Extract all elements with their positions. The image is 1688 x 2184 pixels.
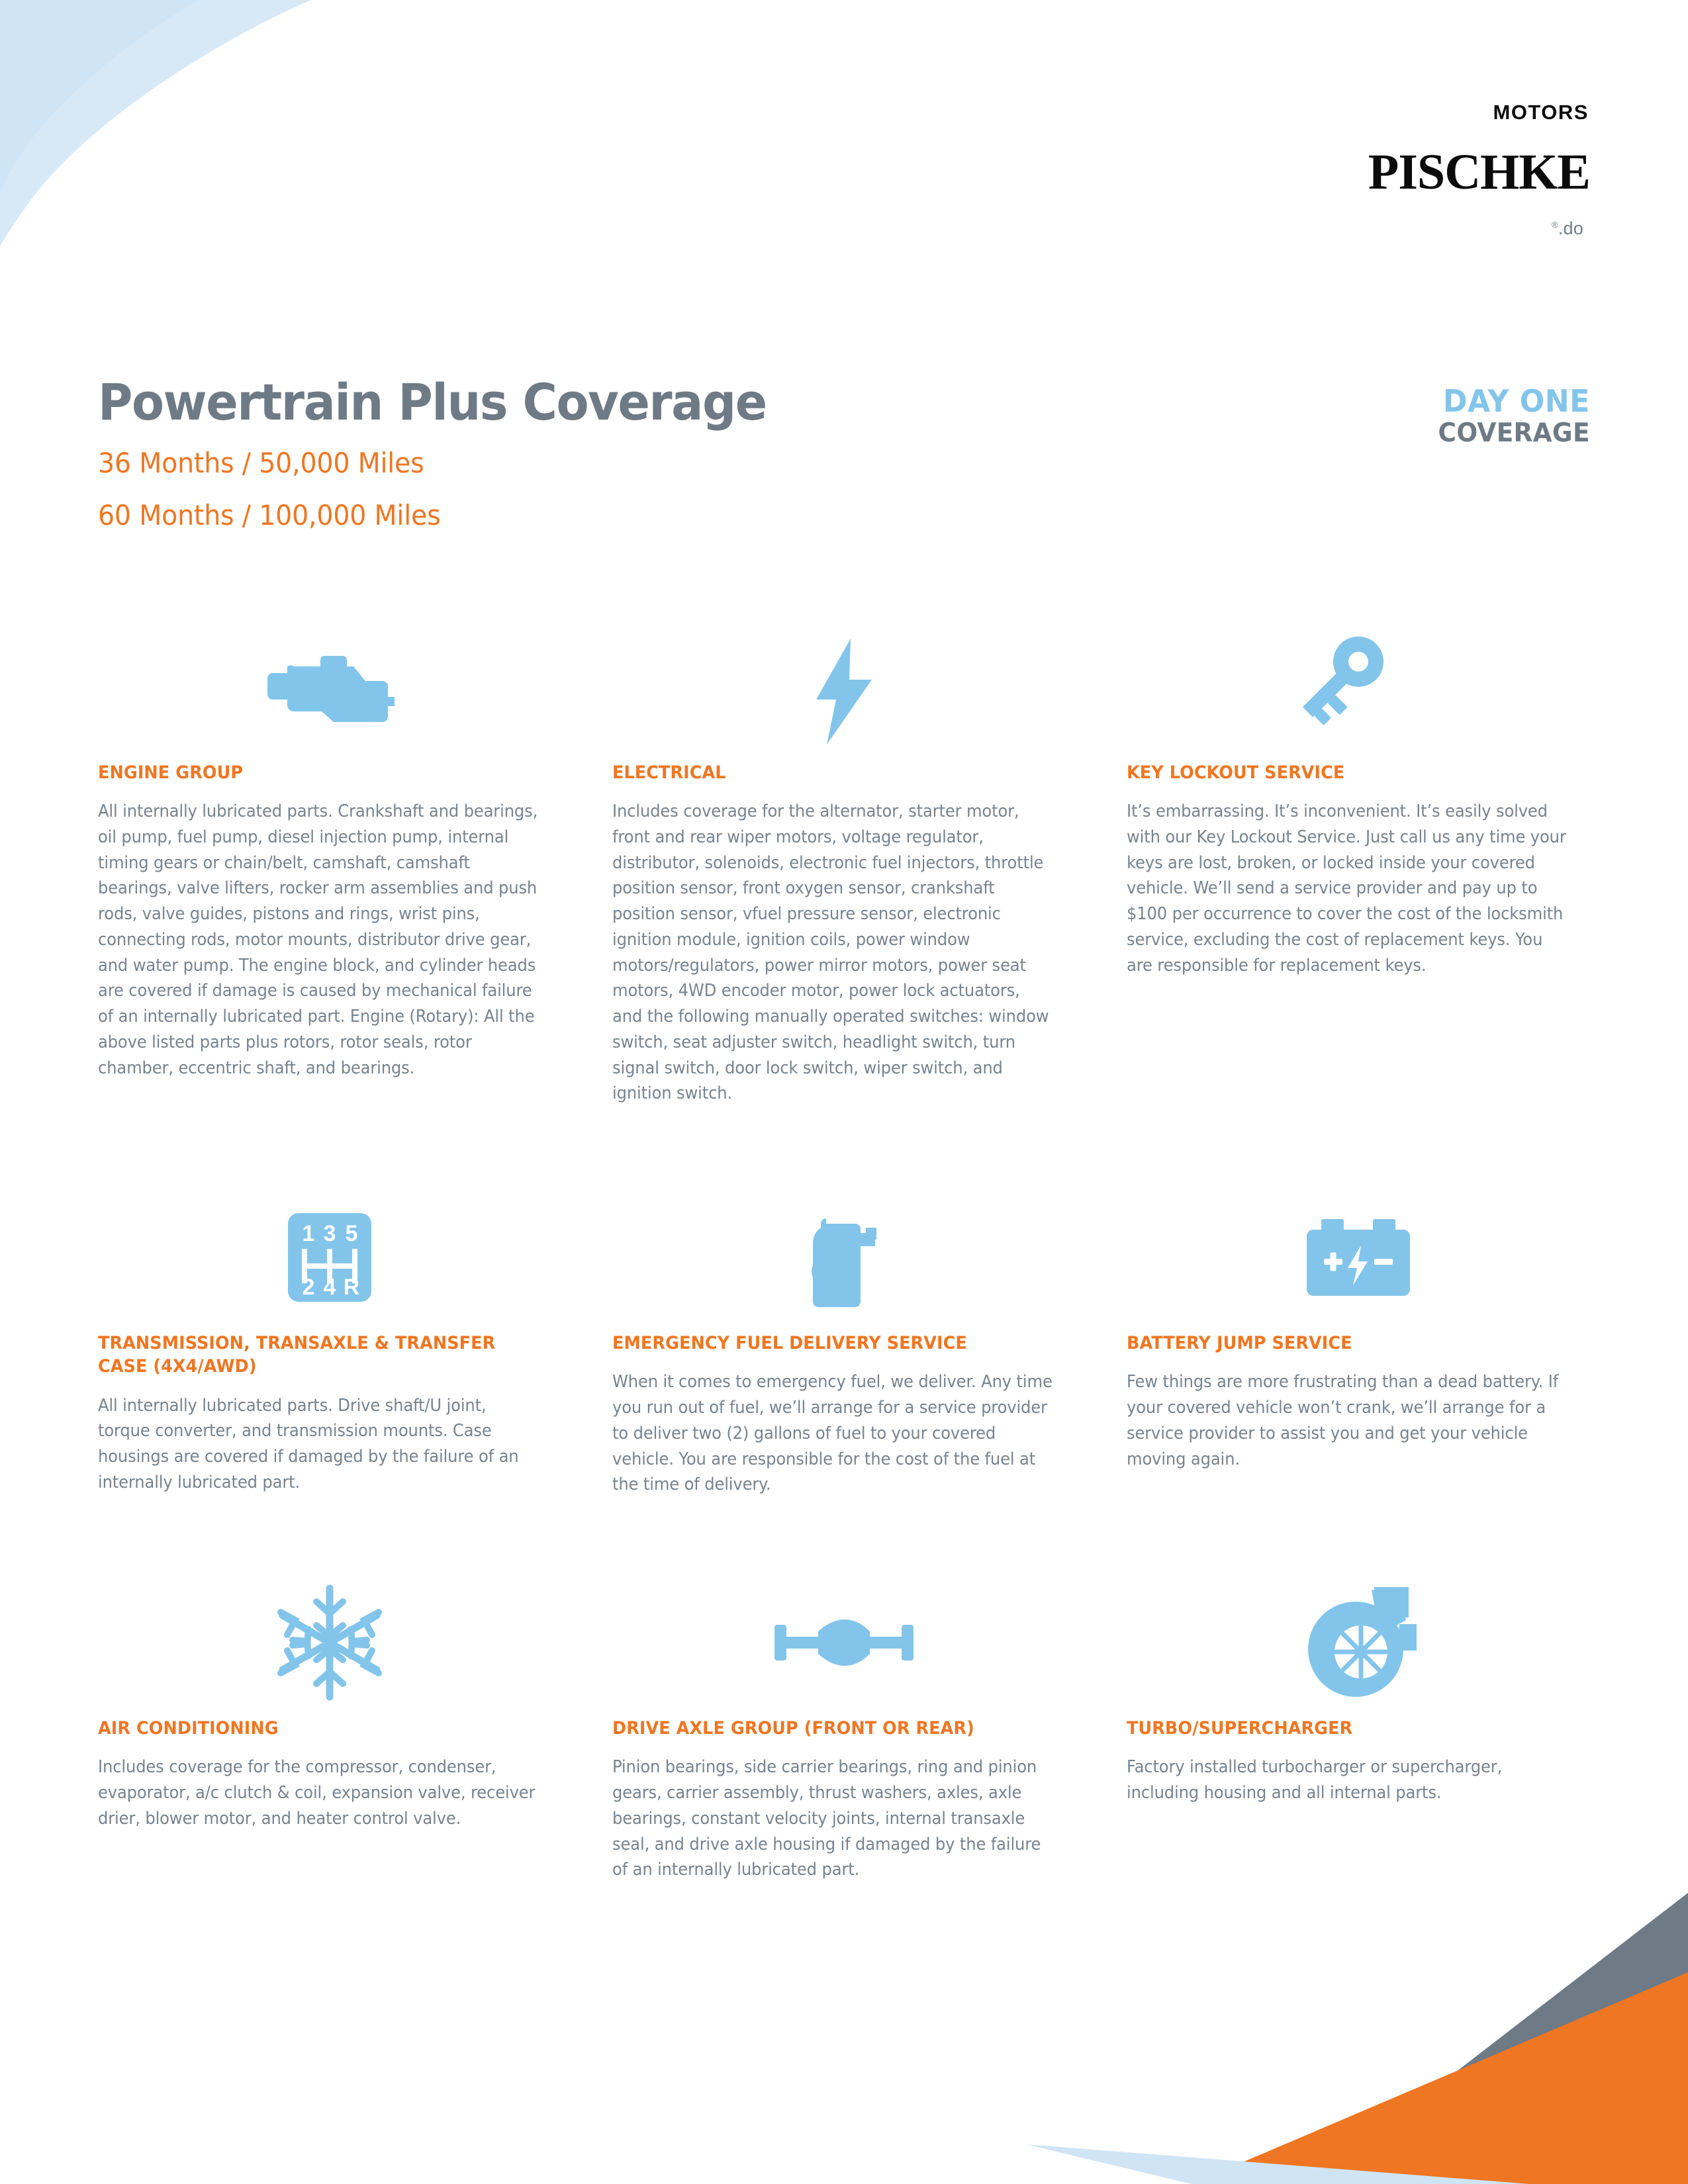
- page-header: Powertrain Plus Coverage 36 Months / 50,…: [98, 377, 809, 529]
- logo-wordmark: Pischke MOTORS: [1368, 130, 1590, 201]
- coverage-item-body: Includes coverage for the compressor, co…: [98, 1754, 538, 1831]
- turbocharger-icon: [1127, 1556, 1590, 1717]
- brand-logo: Pischke MOTORS do.®: [1368, 130, 1590, 239]
- coverage-item-title: TRANSMISSION, TRANSAXLE & TRANSFER CASE …: [98, 1332, 543, 1378]
- gear-shift-pattern-icon: 1 3 5 2 4 R: [98, 1169, 561, 1332]
- coverage-term-line-2: 60 Months / 100,000 Miles: [98, 502, 767, 529]
- coverage-item-body: Includes coverage for the alternator, st…: [612, 799, 1053, 1107]
- coverage-term-line-1: 36 Months / 50,000 Miles: [98, 449, 767, 477]
- coverage-item-air-conditioning: AIR CONDITIONING Includes coverage for t…: [98, 1556, 561, 1883]
- car-battery-icon: [1127, 1169, 1590, 1332]
- coverage-item-title: BATTERY JUMP SERVICE: [1127, 1332, 1571, 1355]
- coverage-item-title: AIR CONDITIONING: [98, 1717, 543, 1740]
- coverage-item-emergency-fuel-delivery: EMERGENCY FUEL DELIVERY SERVICE When it …: [612, 1169, 1076, 1498]
- coverage-item-body: Factory installed turbocharger or superc…: [1127, 1754, 1567, 1806]
- key-icon: [1127, 615, 1590, 761]
- coverage-item-title: ELECTRICAL: [612, 761, 1057, 784]
- drive-axle-icon: [612, 1556, 1076, 1717]
- coverage-item-title: TURBO/SUPERCHARGER: [1127, 1717, 1571, 1740]
- coverage-item-transmission: 1 3 5 2 4 R TRANSMISSION, TRANSAXLE & TR…: [98, 1169, 561, 1498]
- gear-label-3: 3: [324, 1221, 336, 1246]
- engine-icon: [98, 615, 561, 761]
- coverage-item-turbo-supercharger: TURBO/SUPERCHARGER Factory installed tur…: [1127, 1556, 1590, 1883]
- coverage-item-body: Few things are more frustrating than a d…: [1127, 1369, 1567, 1472]
- snowflake-icon: [98, 1556, 561, 1717]
- logo-tagline-text: do.: [1558, 218, 1583, 238]
- day-one-label: DAY ONE: [1438, 386, 1590, 416]
- lightning-bolt-icon: [612, 615, 1076, 761]
- top-left-swoosh-decoration: [0, 0, 662, 285]
- coverage-item-key-lockout-service: KEY LOCKOUT SERVICE It’s embarrassing. I…: [1127, 615, 1590, 1107]
- gear-label-5: 5: [346, 1221, 358, 1246]
- registered-trademark-mark: ®: [1552, 220, 1558, 230]
- coverage-item-body: All internally lubricated parts. Cranksh…: [98, 799, 538, 1081]
- coverage-label: COVERAGE: [1438, 420, 1590, 446]
- coverage-item-title: EMERGENCY FUEL DELIVERY SERVICE: [612, 1332, 1057, 1355]
- coverage-item-body: It’s embarrassing. It’s inconvenient. It…: [1127, 799, 1567, 978]
- coverage-item-engine-group: ENGINE GROUP All internally lubricated p…: [98, 615, 561, 1107]
- gear-label-1: 1: [303, 1221, 315, 1246]
- page-title: Powertrain Plus Coverage: [98, 377, 767, 428]
- logo-tagline: do.®: [1552, 218, 1590, 239]
- fuel-can-icon: [612, 1169, 1076, 1332]
- coverage-item-body: When it comes to emergency fuel, we deli…: [612, 1369, 1053, 1498]
- coverage-item-electrical: ELECTRICAL Includes coverage for the alt…: [612, 615, 1076, 1107]
- logo-pischke-text: Pischke: [1368, 126, 1590, 205]
- coverage-item-title: KEY LOCKOUT SERVICE: [1127, 761, 1571, 784]
- coverage-item-body: Pinion bearings, side carrier bearings, …: [612, 1754, 1053, 1883]
- coverage-grid: ENGINE GROUP All internally lubricated p…: [98, 615, 1590, 1883]
- coverage-item-body: All internally lubricated parts. Drive s…: [98, 1393, 538, 1496]
- coverage-item-battery-jump-service: BATTERY JUMP SERVICE Few things are more…: [1127, 1169, 1590, 1498]
- logo-motors-text: MOTORS: [1493, 102, 1589, 122]
- coverage-item-drive-axle-group: DRIVE AXLE GROUP (FRONT OR REAR) Pinion …: [612, 1556, 1076, 1883]
- coverage-item-title: ENGINE GROUP: [98, 761, 543, 784]
- coverage-item-title: DRIVE AXLE GROUP (FRONT OR REAR): [612, 1717, 1057, 1740]
- day-one-coverage-badge: DAY ONE COVERAGE: [1432, 386, 1590, 446]
